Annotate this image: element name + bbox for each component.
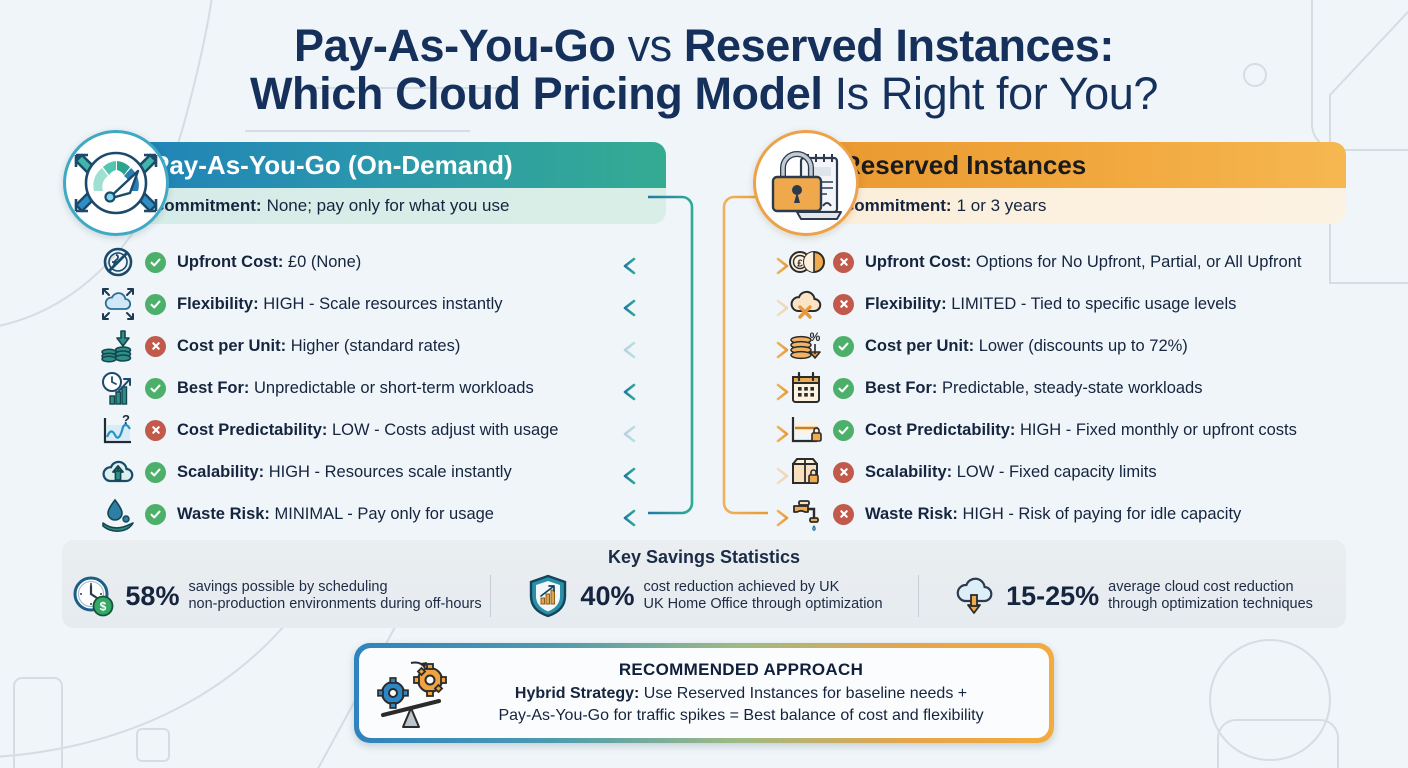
feature-row: Upfront Cost: £0 (None) xyxy=(96,241,558,283)
left-commitment-value: None; pay only for what you use xyxy=(267,196,510,216)
feature-value: MINIMAL - Pay only for usage xyxy=(275,505,494,523)
coins-up-icon xyxy=(96,327,140,365)
hybrid-strategy-line2: Pay-As-You-Go for traffic spikes = Best … xyxy=(498,707,983,724)
stat-percent: 40% xyxy=(580,581,634,612)
right-commitment-label: Commitment: xyxy=(842,196,952,216)
connector-arrows xyxy=(608,175,808,535)
feature-row: Waste Risk: HIGH - Risk of paying for id… xyxy=(784,493,1301,535)
feature-value: LIMITED - Tied to specific usage levels xyxy=(951,295,1236,313)
status-badge-yes xyxy=(145,252,166,273)
page-title: Pay-As-You-Go vs Reserved Instances: Whi… xyxy=(0,22,1408,117)
feature-value: Lower (discounts up to 72%) xyxy=(979,337,1188,355)
feature-text: Upfront Cost: £0 (None) xyxy=(177,253,361,272)
status-badge-yes xyxy=(833,378,854,399)
feature-value: Options for No Upfront, Partial, or All … xyxy=(976,253,1302,271)
right-feature-list: £ Upfront Cost: Options for No Upfront, … xyxy=(784,241,1301,535)
hybrid-strategy-label: Hybrid Strategy: xyxy=(515,685,639,702)
feature-text: Best For: Predictable, steady-state work… xyxy=(865,379,1202,398)
feature-row: Best For: Predictable, steady-state work… xyxy=(784,367,1301,409)
status-badge-no xyxy=(833,504,854,525)
feature-value: Unpredictable or short-term workloads xyxy=(254,379,534,397)
status-badge-yes xyxy=(145,504,166,525)
feature-text: Flexibility: HIGH - Scale resources inst… xyxy=(177,295,503,314)
cloud-upload-icon xyxy=(96,453,140,491)
feature-row: Scalability: HIGH - Resources scale inst… xyxy=(96,451,558,493)
feature-row: £ Upfront Cost: Options for No Upfront, … xyxy=(784,241,1301,283)
title-line-1: Pay-As-You-Go vs Reserved Instances: xyxy=(0,22,1408,70)
recommended-approach-title: RECOMMENDED APPROACH xyxy=(619,660,863,679)
left-header-bar: Pay-As-You-Go (On-Demand) xyxy=(110,142,666,188)
feature-value: HIGH - Resources scale instantly xyxy=(269,463,512,481)
title-part-thin-2: Is Right for You? xyxy=(835,68,1158,119)
feature-label: Best For: xyxy=(177,379,249,397)
feature-label: Flexibility: xyxy=(865,295,947,313)
right-commitment: Commitment: 1 or 3 years xyxy=(800,188,1346,224)
feature-text: Cost per Unit: Lower (discounts up to 72… xyxy=(865,337,1188,356)
status-badge-yes xyxy=(833,336,854,357)
status-badge-no xyxy=(145,336,166,357)
left-feature-list: Upfront Cost: £0 (None) Flexibility: HIG… xyxy=(96,241,558,535)
right-header-bar: Reserved Instances xyxy=(800,142,1346,188)
svg-text:%: % xyxy=(810,330,821,344)
title-part-strong-3: Which Cloud Pricing Model xyxy=(250,68,822,119)
speedometer-scale-icon xyxy=(63,130,169,236)
feature-label: Waste Risk: xyxy=(177,505,270,523)
feature-row: Flexibility: LIMITED - Tied to specific … xyxy=(784,283,1301,325)
right-commitment-value: 1 or 3 years xyxy=(957,196,1047,216)
feature-text: Flexibility: LIMITED - Tied to specific … xyxy=(865,295,1236,314)
stat-percent: 58% xyxy=(125,581,179,612)
stat-description: cost reduction achieved by UK UK Home Of… xyxy=(643,579,882,613)
feature-text: Cost Predictability: LOW - Costs adjust … xyxy=(177,421,558,440)
feature-text: Waste Risk: HIGH - Risk of paying for id… xyxy=(865,505,1241,524)
padlock-contract-icon xyxy=(753,130,859,236)
stat-item: 40% cost reduction achieved by UK UK Hom… xyxy=(490,573,918,619)
gears-balance-icon xyxy=(373,657,451,729)
stats-list: $ 58% savings possible by scheduling non… xyxy=(62,573,1346,619)
stat-desc-line2: through optimization techniques xyxy=(1108,596,1313,612)
feature-text: Scalability: LOW - Fixed capacity limits xyxy=(865,463,1157,482)
feature-label: Flexibility: xyxy=(177,295,259,313)
stat-desc-line1: savings possible by scheduling xyxy=(188,579,387,595)
status-badge-no xyxy=(833,462,854,483)
feature-label: Cost per Unit: xyxy=(865,337,974,355)
svg-text:?: ? xyxy=(122,412,130,427)
cloud-download-icon xyxy=(951,573,997,619)
stat-description: average cloud cost reduction through opt… xyxy=(1108,579,1313,613)
feature-value: Higher (standard rates) xyxy=(291,337,461,355)
feature-label: Cost per Unit: xyxy=(177,337,286,355)
status-badge-no xyxy=(145,420,166,441)
shield-chart-icon xyxy=(525,573,571,619)
feature-value: HIGH - Scale resources instantly xyxy=(263,295,502,313)
clock-dollar-icon: $ xyxy=(70,573,116,619)
feature-row: Cost Predictability: HIGH - Fixed monthl… xyxy=(784,409,1301,451)
cloud-expand-icon xyxy=(96,285,140,323)
title-part-strong-1: Pay-As-You-Go xyxy=(294,20,616,71)
recommended-approach-panel: RECOMMENDED APPROACH Hybrid Strategy: Us… xyxy=(354,643,1054,743)
feature-value: LOW - Costs adjust with usage xyxy=(332,421,559,439)
feature-row: Cost per Unit: Higher (standard rates) xyxy=(96,325,558,367)
feature-row: Flexibility: HIGH - Scale resources inst… xyxy=(96,283,558,325)
left-column-header: Pay-As-You-Go (On-Demand) Commitment: No… xyxy=(110,142,666,224)
stats-title: Key Savings Statistics xyxy=(62,547,1346,568)
clock-chart-icon xyxy=(96,369,140,407)
stat-item: $ 58% savings possible by scheduling non… xyxy=(62,573,490,619)
stat-desc-line1: average cloud cost reduction xyxy=(1108,579,1293,595)
recommended-approach-text: RECOMMENDED APPROACH Hybrid Strategy: Us… xyxy=(451,660,1031,725)
feature-row: Waste Risk: MINIMAL - Pay only for usage xyxy=(96,493,558,535)
left-column-title: Pay-As-You-Go (On-Demand) xyxy=(152,150,513,181)
feature-row: Scalability: LOW - Fixed capacity limits xyxy=(784,451,1301,493)
feature-label: Upfront Cost: xyxy=(865,253,971,271)
feature-label: Scalability: xyxy=(177,463,264,481)
stat-desc-line2: UK Home Office through optimization xyxy=(643,596,882,612)
title-part-thin-1: vs xyxy=(628,20,672,71)
svg-text:$: $ xyxy=(100,600,107,614)
no-money-icon xyxy=(96,243,140,281)
status-badge-yes xyxy=(145,462,166,483)
feature-text: Upfront Cost: Options for No Upfront, Pa… xyxy=(865,253,1301,272)
feature-text: Waste Risk: MINIMAL - Pay only for usage xyxy=(177,505,494,524)
right-column-title: Reserved Instances xyxy=(842,150,1086,181)
stat-item: 15-25% average cloud cost reduction thro… xyxy=(918,573,1346,619)
status-badge-no xyxy=(833,294,854,315)
stat-desc-line2: non-production environments during off-h… xyxy=(188,596,481,612)
chart-question-icon: ? xyxy=(96,411,140,449)
left-commitment: Commitment: None; pay only for what you … xyxy=(110,188,666,224)
feature-label: Cost Predictability: xyxy=(177,421,327,439)
right-column-header: Reserved Instances Commitment: 1 or 3 ye… xyxy=(800,142,1346,224)
title-part-strong-2: Reserved Instances: xyxy=(684,20,1114,71)
water-drop-hand-icon xyxy=(96,495,140,533)
feature-text: Best For: Unpredictable or short-term wo… xyxy=(177,379,534,398)
status-badge-yes xyxy=(145,294,166,315)
feature-value: £0 (None) xyxy=(288,253,361,271)
feature-text: Cost per Unit: Higher (standard rates) xyxy=(177,337,460,356)
key-savings-panel: Key Savings Statistics $ 58% savings pos… xyxy=(62,540,1346,628)
feature-text: Cost Predictability: HIGH - Fixed monthl… xyxy=(865,421,1297,440)
feature-text: Scalability: HIGH - Resources scale inst… xyxy=(177,463,512,482)
recommended-approach-inner: RECOMMENDED APPROACH Hybrid Strategy: Us… xyxy=(359,648,1049,738)
status-badge-yes xyxy=(145,378,166,399)
hybrid-strategy-line1: Use Reserved Instances for baseline need… xyxy=(639,685,967,702)
title-line-2: Which Cloud Pricing Model Is Right for Y… xyxy=(0,70,1408,118)
feature-label: Waste Risk: xyxy=(865,505,958,523)
status-badge-no xyxy=(833,252,854,273)
feature-value: HIGH - Risk of paying for idle capacity xyxy=(963,505,1242,523)
feature-row: Best For: Unpredictable or short-term wo… xyxy=(96,367,558,409)
stat-desc-line1: cost reduction achieved by UK xyxy=(643,579,839,595)
feature-label: Scalability: xyxy=(865,463,952,481)
feature-label: Best For: xyxy=(865,379,937,397)
feature-row: % Cost per Unit: Lower (discounts up to … xyxy=(784,325,1301,367)
recommended-approach-body: Hybrid Strategy: Use Reserved Instances … xyxy=(451,683,1031,725)
stat-percent: 15-25% xyxy=(1006,581,1099,612)
feature-label: Cost Predictability: xyxy=(865,421,1015,439)
feature-row: ? Cost Predictability: LOW - Costs adjus… xyxy=(96,409,558,451)
feature-value: HIGH - Fixed monthly or upfront costs xyxy=(1020,421,1297,439)
feature-value: LOW - Fixed capacity limits xyxy=(957,463,1157,481)
feature-label: Upfront Cost: xyxy=(177,253,283,271)
stat-description: savings possible by scheduling non-produ… xyxy=(188,579,481,613)
left-commitment-label: Commitment: xyxy=(152,196,262,216)
status-badge-yes xyxy=(833,420,854,441)
feature-value: Predictable, steady-state workloads xyxy=(942,379,1202,397)
